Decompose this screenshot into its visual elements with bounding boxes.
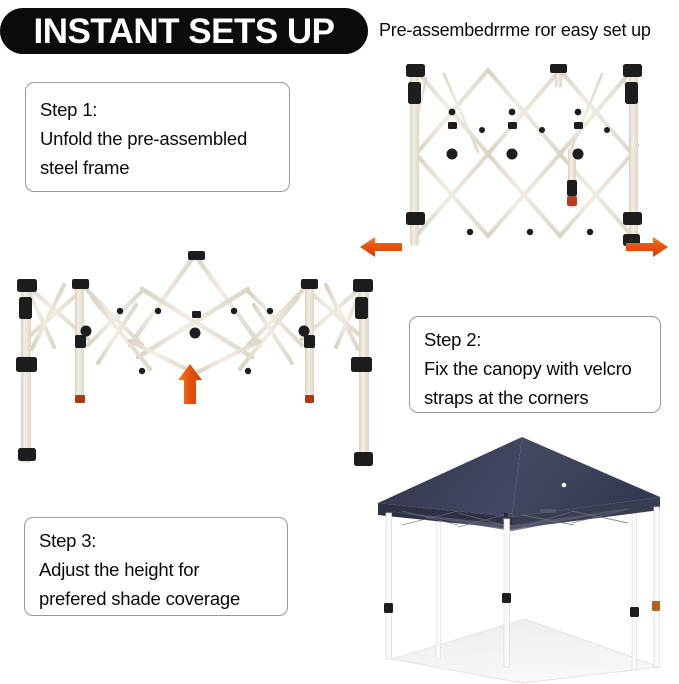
right-side-lattice <box>196 285 364 373</box>
step-2-title: Step 2: <box>424 325 646 354</box>
left-side-lattice <box>26 285 246 373</box>
canopy-roof-left-face <box>378 437 522 517</box>
assembled-canopy-image <box>362 425 679 684</box>
step-3-title: Step 3: <box>39 526 273 555</box>
step-2-callout: Step 2: Fix the canopy with velcro strap… <box>409 316 661 413</box>
step-3-callout: Step 3: Adjust the height for prefered s… <box>24 517 288 616</box>
arrow-right-icon <box>624 233 670 261</box>
canopy-leg-height-locks <box>384 593 639 617</box>
frame-legs <box>410 68 638 246</box>
step-2-line-2: Fix the canopy with velcro <box>424 354 646 383</box>
canopy-valance-label <box>540 509 556 513</box>
header-subtitle: Pre-assembedrrme ror easy set up <box>379 20 651 41</box>
canopy-leg-strap-accent <box>652 601 660 611</box>
banner-label: INSTANT SETS UP <box>33 14 334 49</box>
arrow-up-icon <box>175 362 205 406</box>
step-3-line-3: prefered shade coverage <box>39 584 273 613</box>
instant-setup-banner: INSTANT SETS UP <box>0 8 368 54</box>
scissor-truss-bars <box>412 70 638 236</box>
step-3-line-2: Adjust the height for <box>39 555 273 584</box>
frame-joint-fittings <box>406 64 642 246</box>
frame-joint-fittings <box>16 251 373 466</box>
centre-peak-truss <box>130 255 260 357</box>
canopy-ground-footprint <box>392 619 660 683</box>
partially-folded-steel-frame-image <box>392 56 679 251</box>
step-1-line-2: Unfold the pre-assembled <box>40 124 275 153</box>
step-1-callout: Step 1: Unfold the pre-assembled steel f… <box>25 82 290 192</box>
canopy-leg-left <box>386 513 392 659</box>
step-1-line-3: steel frame <box>40 153 275 182</box>
canopy-roof-logo-mark <box>562 483 567 488</box>
canopy-leg-right <box>654 507 660 667</box>
step-1-title: Step 1: <box>40 95 275 124</box>
step-2-line-3: straps at the corners <box>424 383 646 412</box>
